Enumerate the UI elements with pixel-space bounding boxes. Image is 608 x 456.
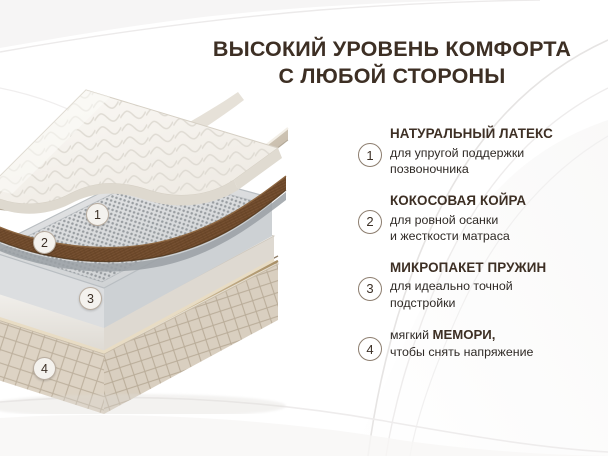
- legend-desc-2-line-2: и жесткости матраса: [390, 228, 604, 245]
- legend-title-3: МИКРОПАКЕТ ПРУЖИН: [390, 260, 604, 277]
- legend-desc-4-line-2: чтобы снять напряжение: [390, 344, 604, 361]
- legend-brand-4: МЕМОРИ,: [432, 327, 495, 342]
- legend-text-1: НАТУРАЛЬНЫЙ ЛАТЕКС для упругой поддержки…: [390, 126, 604, 178]
- legend-desc-3-line-2: подстройки: [390, 295, 604, 312]
- page-title: ВЫСОКИЙ УРОВЕНЬ КОМФОРТА С ЛЮБОЙ СТОРОНЫ: [186, 36, 598, 89]
- legend-text-4: мягкий МЕМОРИ, чтобы снять напряжение: [390, 326, 604, 360]
- promo-banner: ВЫСОКИЙ УРОВЕНЬ КОМФОРТА С ЛЮБОЙ СТОРОНЫ: [0, 0, 608, 456]
- title-line-1: ВЫСОКИЙ УРОВЕНЬ КОМФОРТА: [213, 37, 571, 61]
- legend-desc-2-line-1: для ровной осанки: [390, 212, 604, 229]
- legend-title-2: КОКОСОВАЯ КОЙРА: [390, 193, 604, 210]
- legend-desc-1-line-2: позвоночника: [390, 161, 604, 178]
- legend-desc-3-line-1: для идеально точной: [390, 278, 604, 295]
- legend-badge-2: 2: [358, 210, 382, 234]
- legend-desc-1-line-1: для упругой поддержки: [390, 145, 604, 162]
- legend-title-4: мягкий МЕМОРИ,: [390, 326, 604, 344]
- callout-badge-3: 3: [79, 287, 102, 310]
- legend-item-memory: 4 мягкий МЕМОРИ, чтобы снять напряжение: [358, 326, 604, 360]
- legend-badge-4: 4: [358, 337, 382, 361]
- callout-badge-1: 1: [86, 203, 109, 226]
- callout-badge-2: 2: [33, 231, 56, 254]
- mattress-illustration: 1 2 3 4: [0, 84, 326, 414]
- legend-soft-prefix-4: мягкий: [390, 328, 432, 342]
- legend-text-2: КОКОСОВАЯ КОЙРА для ровной осанки и жест…: [390, 193, 604, 245]
- callout-badge-4: 4: [33, 357, 56, 380]
- legend-item-latex: 1 НАТУРАЛЬНЫЙ ЛАТЕКС для упругой поддерж…: [358, 126, 604, 178]
- legend-title-1: НАТУРАЛЬНЫЙ ЛАТЕКС: [390, 126, 604, 143]
- legend-badge-3: 3: [358, 277, 382, 301]
- legend-text-3: МИКРОПАКЕТ ПРУЖИН для идеально точной по…: [390, 260, 604, 312]
- feature-legend: 1 НАТУРАЛЬНЫЙ ЛАТЕКС для упругой поддерж…: [358, 126, 604, 376]
- legend-item-springs: 3 МИКРОПАКЕТ ПРУЖИН для идеально точной …: [358, 260, 604, 312]
- legend-item-coir: 2 КОКОСОВАЯ КОЙРА для ровной осанки и же…: [358, 193, 604, 245]
- legend-badge-1: 1: [358, 143, 382, 167]
